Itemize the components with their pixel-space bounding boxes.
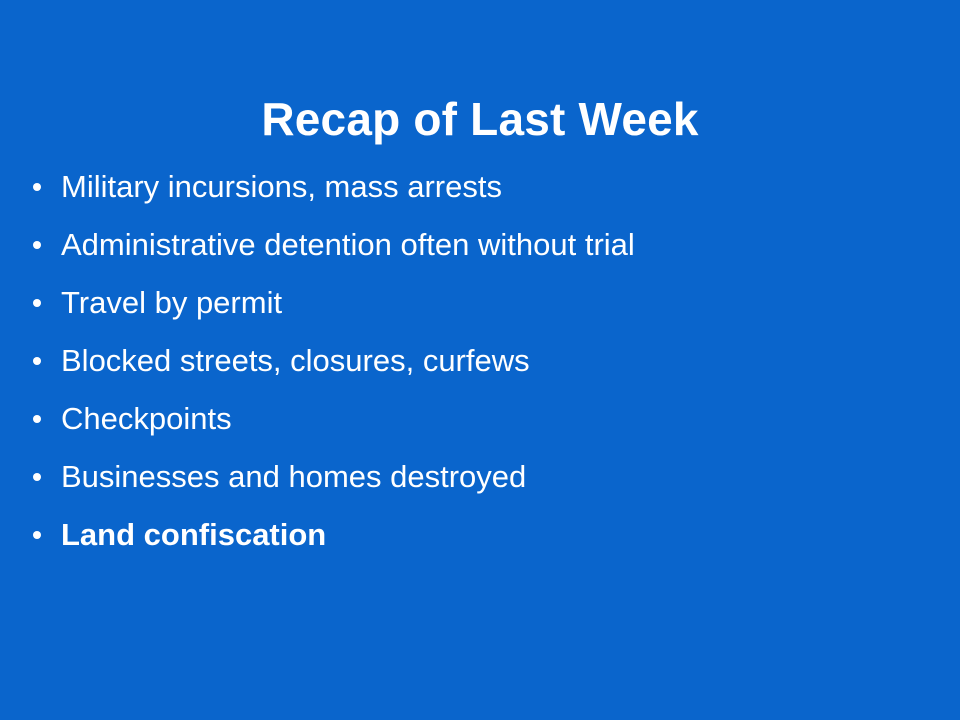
list-item-label: Administrative detention often without t…	[61, 216, 635, 274]
bullet-dot-icon	[33, 299, 41, 307]
list-item: Military incursions, mass arrests	[28, 158, 928, 216]
bullet-dot-icon	[33, 415, 41, 423]
list-item-label: Travel by permit	[61, 274, 282, 332]
list-item: Checkpoints	[28, 390, 928, 448]
list-item: Blocked streets, closures, curfews	[28, 332, 928, 390]
page-title: Recap of Last Week	[0, 94, 960, 145]
list-item-label: Checkpoints	[61, 390, 232, 448]
bullet-dot-icon	[33, 183, 41, 191]
bullet-dot-icon	[33, 531, 41, 539]
bullet-dot-icon	[33, 241, 41, 249]
list-item-label: Land confiscation	[61, 506, 326, 564]
list-item: Businesses and homes destroyed	[28, 448, 928, 506]
list-item: Travel by permit	[28, 274, 928, 332]
list-item: Administrative detention often without t…	[28, 216, 928, 274]
list-item-label: Blocked streets, closures, curfews	[61, 332, 530, 390]
presentation-slide: Recap of Last Week Military incursions, …	[0, 0, 960, 720]
list-item: Land confiscation	[28, 506, 928, 564]
bullet-dot-icon	[33, 473, 41, 481]
list-item-label: Businesses and homes destroyed	[61, 448, 526, 506]
bullet-list: Military incursions, mass arrests Admini…	[28, 158, 928, 564]
bullet-dot-icon	[33, 357, 41, 365]
list-item-label: Military incursions, mass arrests	[61, 158, 502, 216]
